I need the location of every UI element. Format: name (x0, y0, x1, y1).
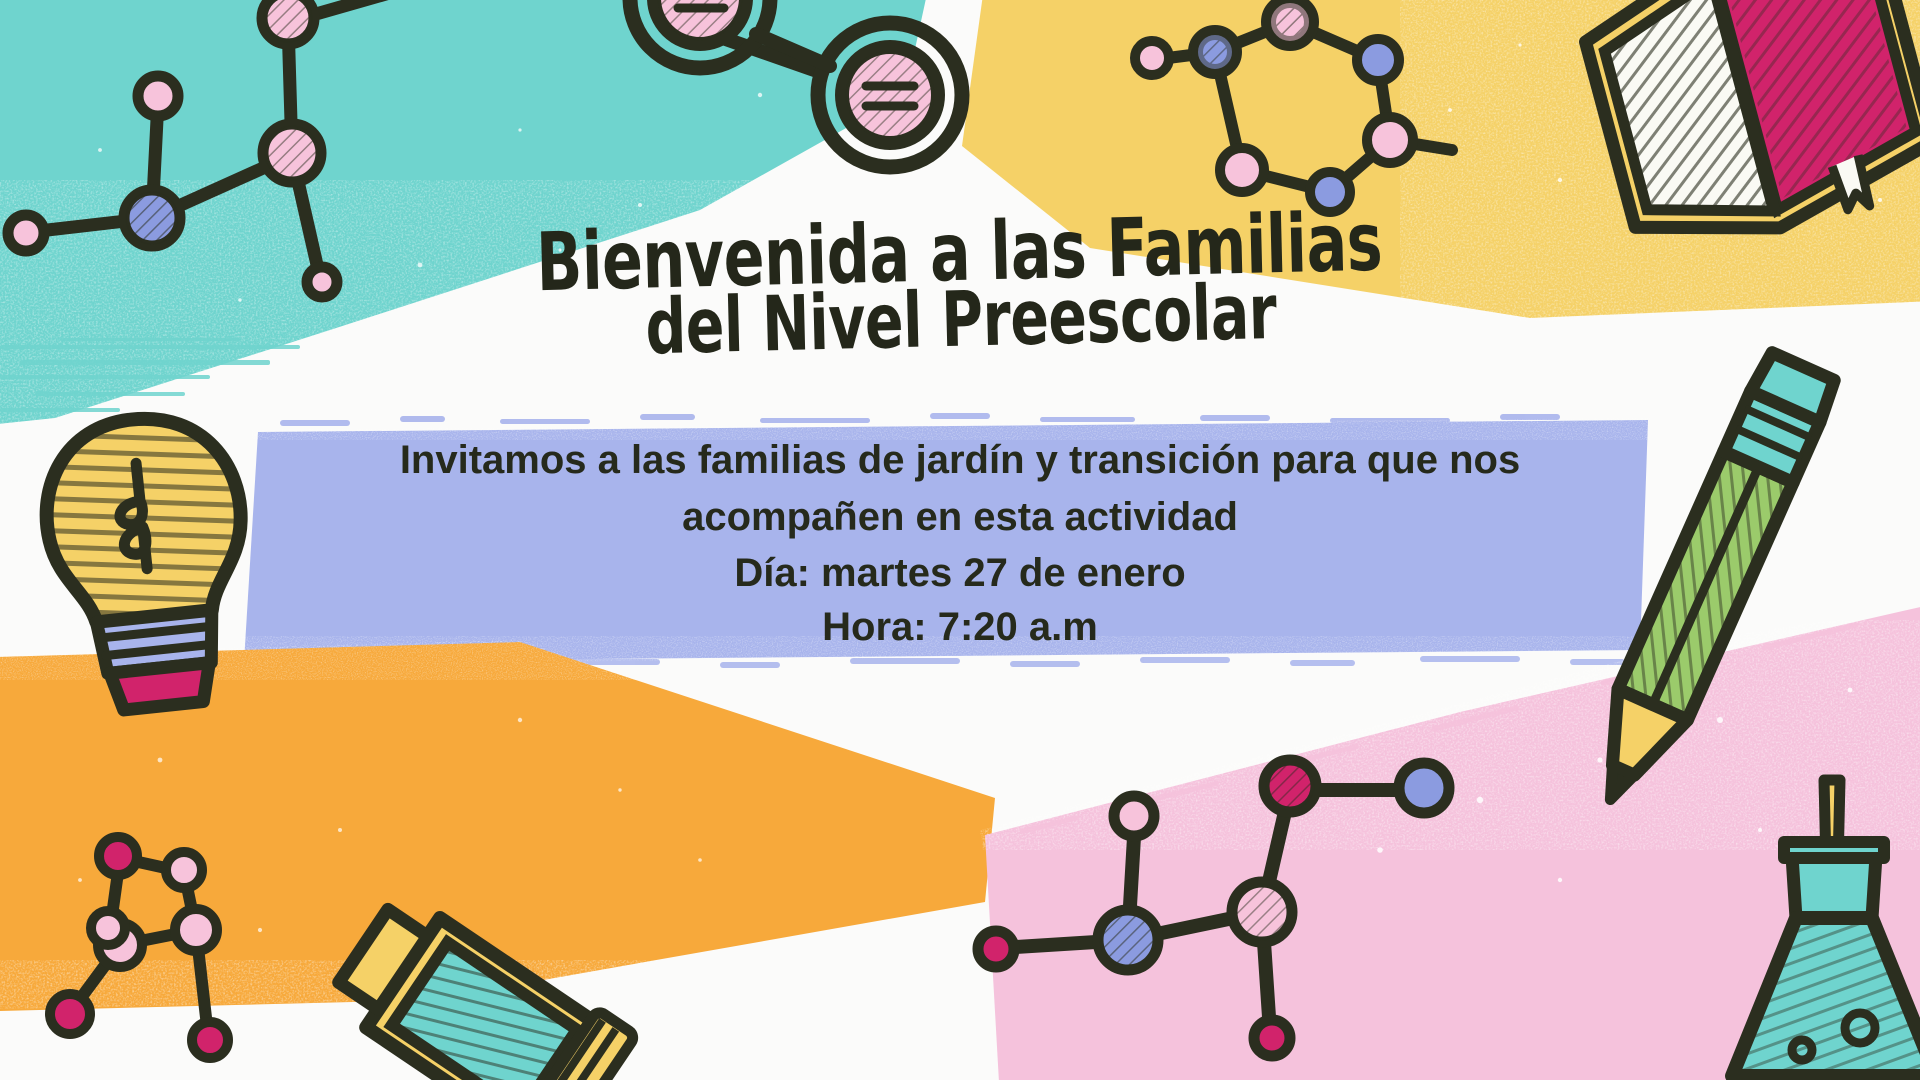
book-icon (1573, 0, 1920, 266)
molecule-top-left (8, 0, 400, 297)
molecule-bottom-left (50, 837, 228, 1058)
lightbulb-icon (37, 409, 260, 716)
microscope-icon (320, 881, 636, 1080)
molecule-top-center (630, 0, 962, 167)
molecule-top-right (1135, 0, 1452, 212)
poster-canvas: Bienvenida a las Familias del Nivel Pree… (0, 0, 1920, 1080)
flask-icon (1732, 780, 1920, 1076)
doodle-illustrations (0, 0, 1920, 1080)
pencil-icon (1576, 351, 1838, 815)
molecule-bottom-center (978, 760, 1449, 1056)
